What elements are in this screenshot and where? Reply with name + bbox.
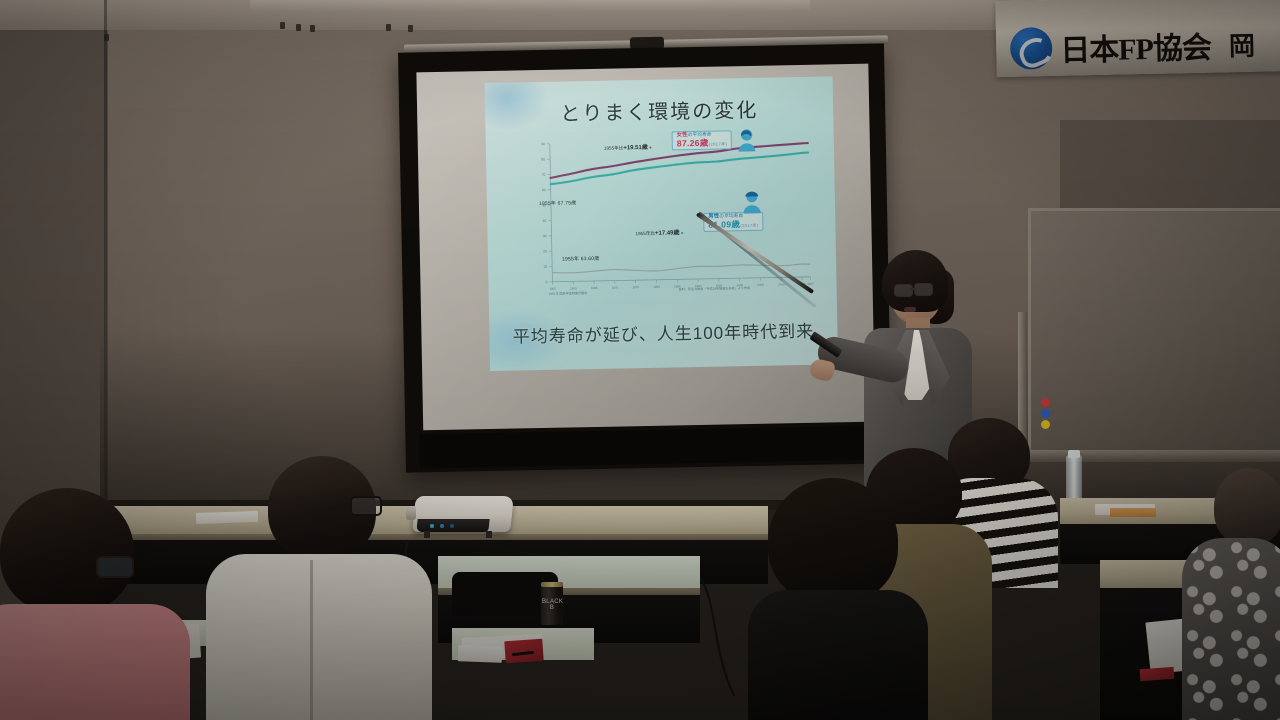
seminar-room-photo: 日本FP協会 岡 とりまく環境の変化 bbox=[0, 0, 1280, 720]
chart-note-left: 1961年 国民年金制度が開始 bbox=[549, 291, 588, 296]
pink-shirt bbox=[0, 604, 190, 720]
pull-down-projection-screen: とりまく環境の変化 9080706050403020100 1955196019… bbox=[398, 43, 892, 472]
chart-svg: 9080706050403020100 19551960196519701975… bbox=[524, 133, 817, 309]
svg-text:1965: 1965 bbox=[591, 286, 598, 290]
ceiling-anchor-icon bbox=[280, 22, 285, 29]
presentation-slide: とりまく環境の変化 9080706050403020100 1955196019… bbox=[485, 76, 838, 371]
head bbox=[1214, 468, 1280, 546]
female-life-expectancy-box: 女性の平均寿命 87.26歳(2017年) bbox=[672, 130, 733, 150]
ceiling-anchor-icon bbox=[408, 25, 413, 32]
svg-text:30: 30 bbox=[543, 234, 547, 238]
slide-caption: 平均寿命が延び、人生100年時代到来 bbox=[489, 316, 837, 348]
booklet-orange bbox=[1110, 508, 1156, 517]
projector-lens bbox=[406, 506, 416, 520]
male-delta-label: 1955年比+17.49歳 ● bbox=[635, 227, 683, 237]
ceiling-anchor-icon bbox=[296, 24, 301, 31]
male-start-label: 1955年 63.60歳 bbox=[562, 255, 600, 263]
svg-text:60: 60 bbox=[542, 188, 546, 192]
ceiling-anchor-icon bbox=[310, 25, 315, 32]
svg-text:70: 70 bbox=[542, 173, 546, 177]
coffee-can: BLACK B bbox=[541, 585, 563, 625]
handout-paper bbox=[196, 511, 258, 524]
presenter-mouth bbox=[904, 307, 916, 312]
can-top bbox=[541, 582, 563, 587]
female-start-label: 1955年 67.75歳 bbox=[539, 199, 577, 207]
magnet-blue-icon bbox=[1041, 409, 1050, 418]
shirt-seam bbox=[310, 560, 313, 720]
whiteboard-marker-tray bbox=[1016, 450, 1280, 462]
svg-text:1955: 1955 bbox=[549, 287, 556, 291]
handout-paper bbox=[458, 645, 503, 663]
eyeglasses bbox=[96, 556, 134, 578]
presenter-glasses-left-lens bbox=[894, 284, 913, 297]
svg-text:2017: 2017 bbox=[807, 282, 814, 286]
female-box-value: 87.26歳(2017年) bbox=[677, 138, 727, 148]
chart-y-ticks bbox=[547, 144, 553, 282]
whiteboard bbox=[1028, 208, 1280, 458]
female-person-icon bbox=[736, 128, 758, 152]
water-bottle-cap bbox=[1068, 450, 1080, 458]
head bbox=[0, 488, 134, 614]
can-label: BLACK B bbox=[542, 599, 562, 611]
magnet-red-icon bbox=[1041, 398, 1050, 407]
presenter-glasses-right-lens bbox=[914, 283, 933, 296]
svg-text:1960: 1960 bbox=[570, 286, 577, 290]
ceiling-light-strip bbox=[250, 0, 810, 12]
svg-text:1975: 1975 bbox=[633, 285, 640, 289]
eyeglasses bbox=[350, 496, 382, 516]
screen-bottom-bar bbox=[419, 426, 878, 469]
red-booklet bbox=[1140, 667, 1175, 681]
white-shirt bbox=[206, 554, 432, 720]
chart-y-tick-labels: 9080706050403020100 bbox=[541, 142, 548, 284]
screen-surface: とりまく環境の変化 9080706050403020100 1955196019… bbox=[416, 64, 875, 431]
svg-text:40: 40 bbox=[542, 219, 546, 223]
presenter-hair bbox=[882, 250, 948, 312]
svg-text:2005: 2005 bbox=[757, 283, 764, 287]
svg-text:10: 10 bbox=[543, 265, 547, 269]
svg-text:1980: 1980 bbox=[653, 285, 660, 289]
slide-title: とりまく環境の変化 bbox=[485, 92, 833, 128]
banner-shading bbox=[995, 0, 1280, 77]
female-delta-label: 1955年比+19.51歳 ● bbox=[604, 142, 652, 152]
svg-text:1970: 1970 bbox=[612, 286, 619, 290]
ceiling-anchor-icon bbox=[386, 24, 391, 31]
floral-shirt bbox=[1182, 538, 1280, 720]
magnet-yellow-icon bbox=[1041, 420, 1050, 429]
svg-text:0: 0 bbox=[546, 280, 548, 284]
organization-banner: 日本FP協会 岡 bbox=[995, 0, 1280, 77]
svg-text:80: 80 bbox=[541, 157, 545, 161]
male-person-icon bbox=[741, 190, 763, 214]
life-expectancy-chart: 9080706050403020100 19551960196519701975… bbox=[524, 133, 817, 309]
presenter-glasses-bridge bbox=[910, 288, 916, 290]
head bbox=[768, 478, 898, 604]
svg-text:20: 20 bbox=[543, 249, 547, 253]
series-line-male bbox=[550, 153, 808, 185]
dark-shirt bbox=[748, 590, 928, 720]
svg-text:90: 90 bbox=[541, 142, 545, 146]
ceiling-anchor-icon bbox=[104, 34, 109, 41]
